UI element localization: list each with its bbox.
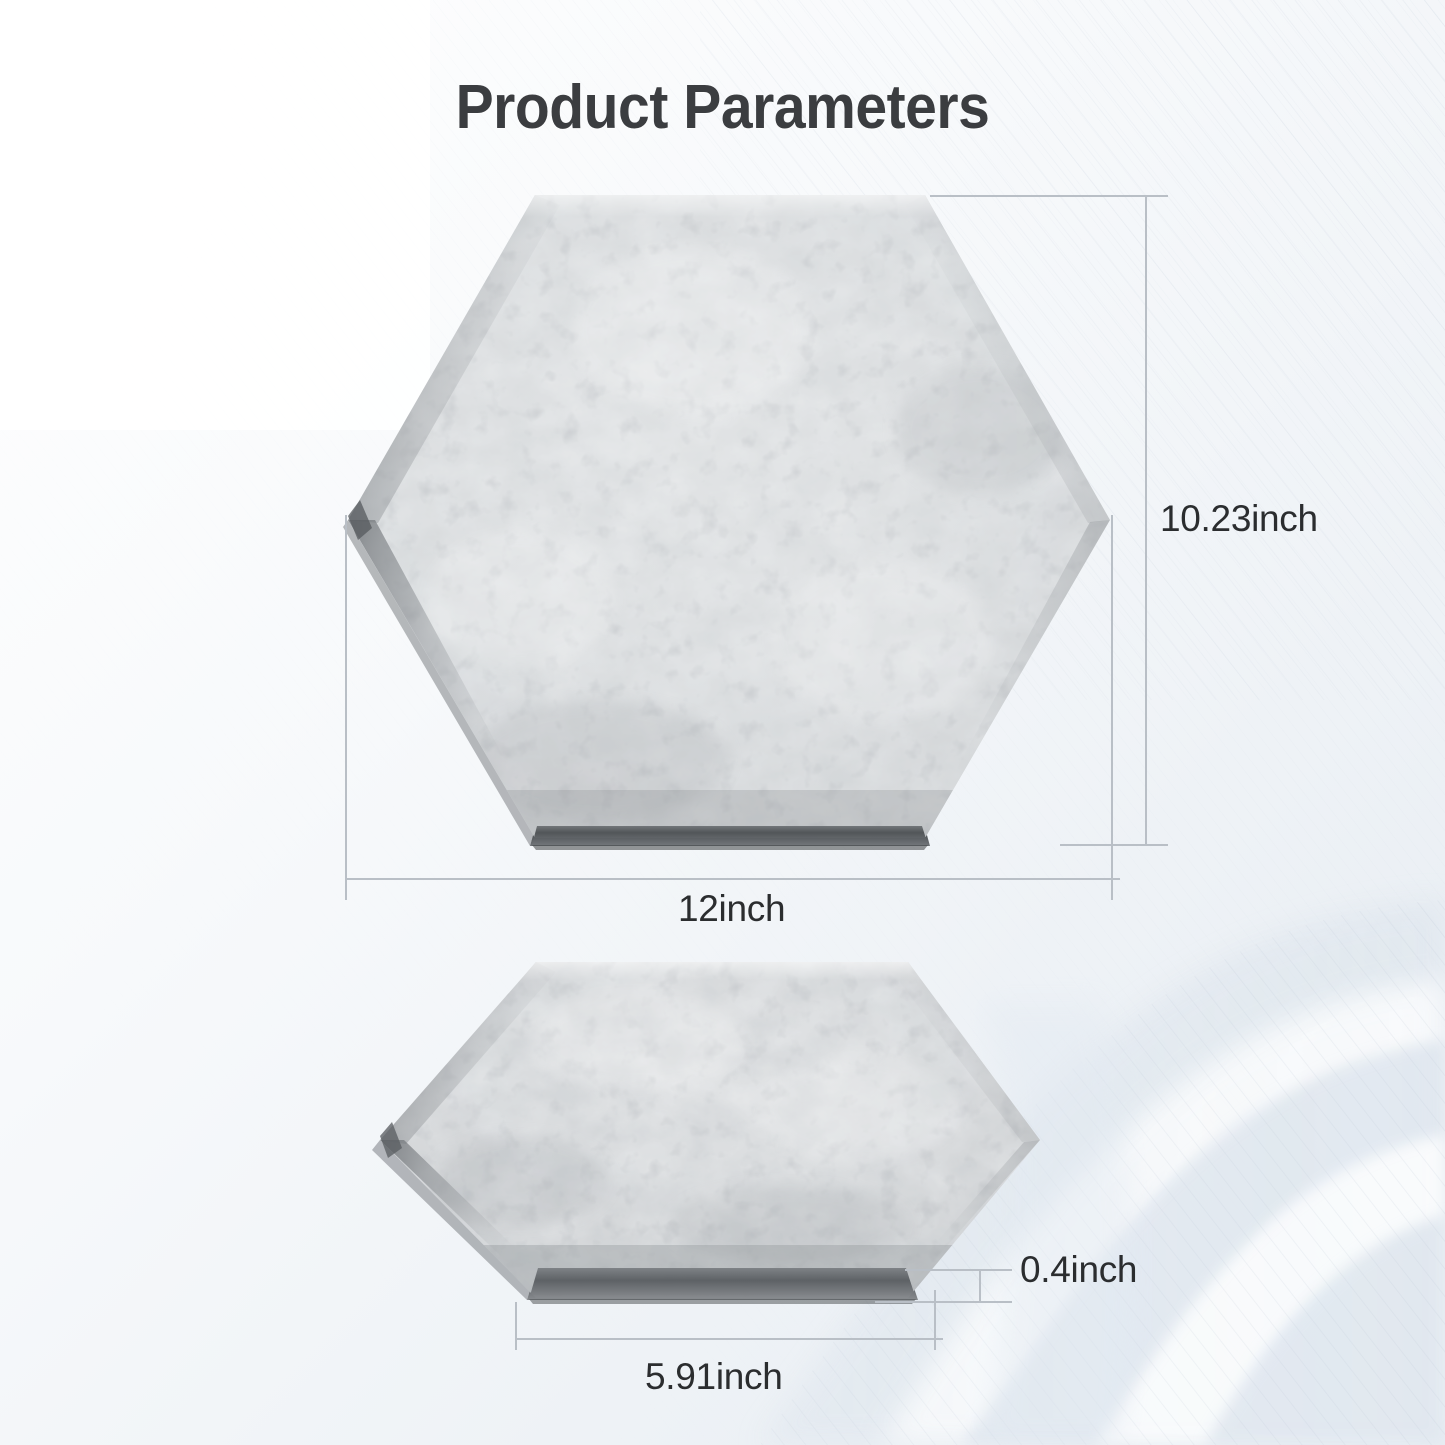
dimension-flatside-5_91inch	[516, 1290, 943, 1350]
dimension-label-flat-side: 5.91inch	[645, 1356, 783, 1398]
dimension-label-width: 12inch	[678, 888, 785, 930]
dimension-label-thickness: 0.4inch	[1020, 1249, 1137, 1291]
dimension-width-12inch	[346, 515, 1120, 900]
dimension-thickness-0_4inch	[875, 1270, 1012, 1302]
dimension-height-10_23inch	[930, 196, 1168, 845]
product-parameters-infographic: Product Parameters	[0, 0, 1445, 1445]
dimension-label-height: 10.23inch	[1160, 498, 1318, 540]
page-title: Product Parameters	[58, 72, 1387, 143]
dimension-lines	[0, 0, 1445, 1445]
